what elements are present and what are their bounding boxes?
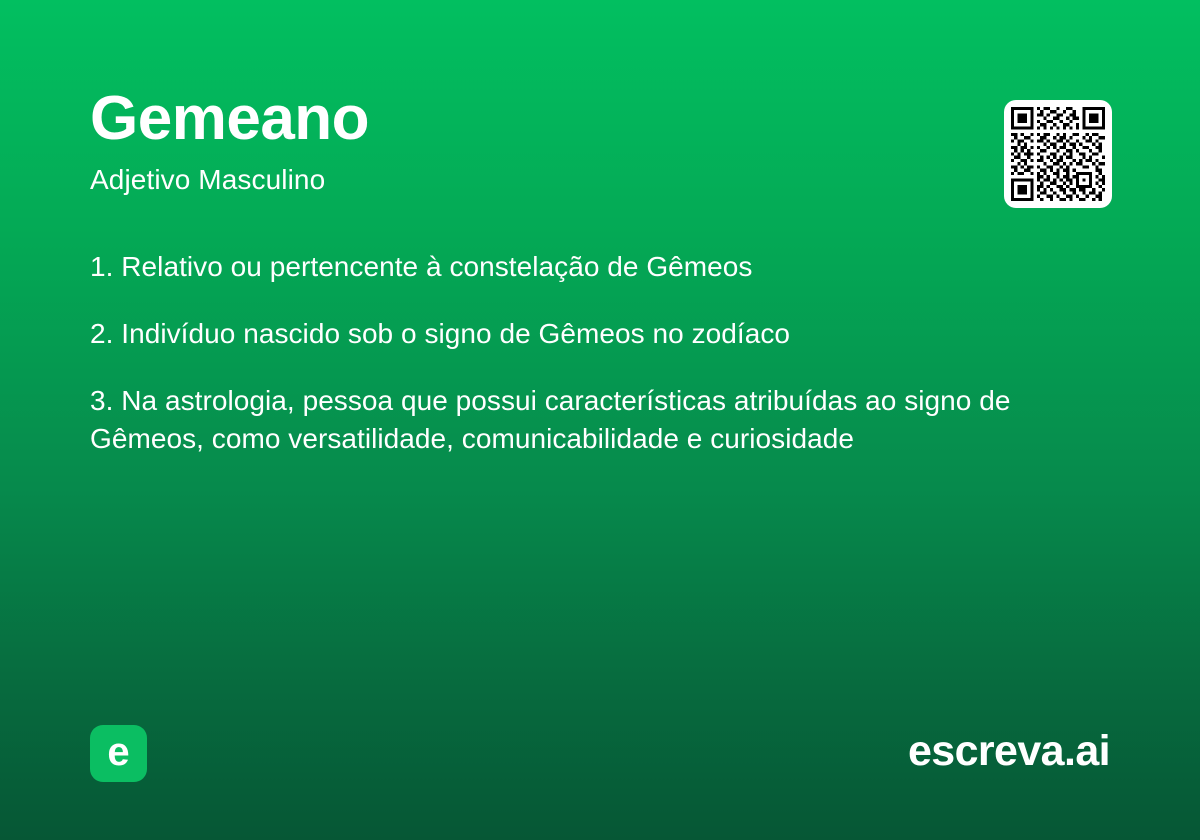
definition-item-1: 1. Relativo ou pertencente à constelação…	[90, 248, 1100, 286]
definition-item-3: 3. Na astrologia, pessoa que possui cara…	[90, 382, 1100, 458]
page-title: Gemeano	[90, 88, 1110, 150]
definitions-list: 1. Relativo ou pertencente à constelação…	[90, 248, 1100, 458]
brand-wordmark: escreva.ai	[908, 726, 1110, 778]
brand-logo-letter: e	[107, 732, 129, 772]
brand-logo-badge[interactable]: e	[90, 725, 147, 782]
card-header: Gemeano Adjetivo Masculino	[90, 88, 1110, 196]
word-class-label: Adjetivo Masculino	[90, 164, 1110, 196]
dictionary-card: Gemeano Adjetivo Masculino	[0, 0, 1200, 840]
qr-code-icon	[1011, 107, 1105, 201]
qr-code[interactable]	[1004, 100, 1112, 208]
definition-item-2: 2. Indivíduo nascido sob o signo de Gême…	[90, 315, 1100, 353]
